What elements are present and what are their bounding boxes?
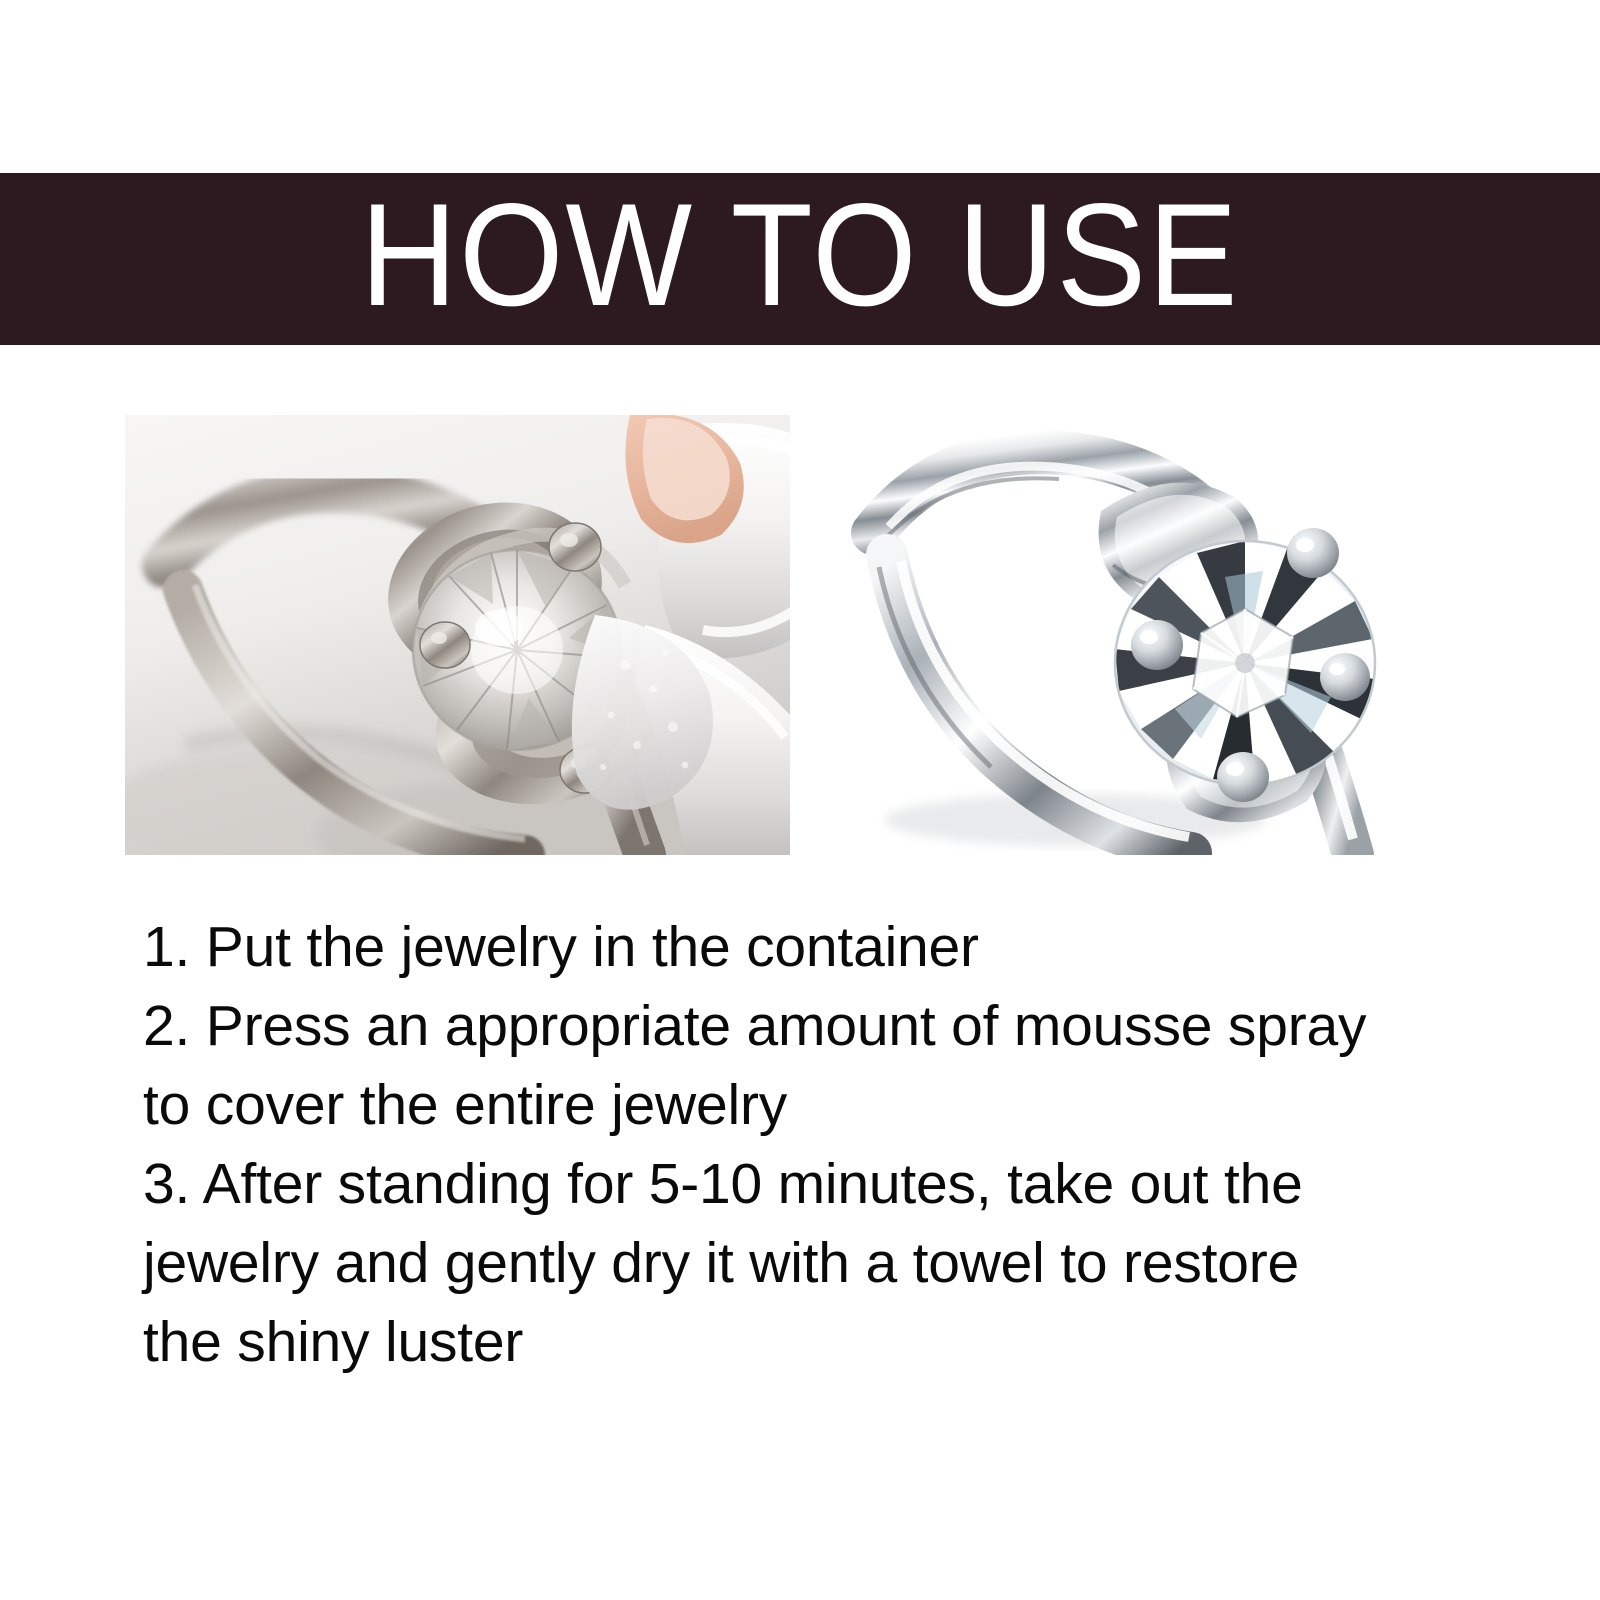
page-title: HOW TO USE: [360, 182, 1239, 336]
before-photo: [125, 415, 790, 855]
after-photo: [845, 415, 1445, 855]
photo-row: [0, 415, 1600, 855]
before-photo-illustration: [125, 415, 790, 855]
header-band: HOW TO USE: [0, 173, 1600, 345]
instruction-line: 2. Press an appropriate amount of mousse…: [143, 987, 1463, 1066]
instruction-line: to cover the entire jewelry: [143, 1066, 1463, 1145]
after-photo-illustration: [845, 415, 1445, 855]
instruction-line: jewelry and gently dry it with a towel t…: [143, 1224, 1463, 1303]
instruction-line: the shiny luster: [143, 1303, 1463, 1382]
instruction-list: 1. Put the jewelry in the container 2. P…: [143, 908, 1463, 1382]
instruction-line: 3. After standing for 5-10 minutes, take…: [143, 1145, 1463, 1224]
how-to-use-infographic: HOW TO USE: [0, 0, 1600, 1600]
instruction-line: 1. Put the jewelry in the container: [143, 908, 1463, 987]
